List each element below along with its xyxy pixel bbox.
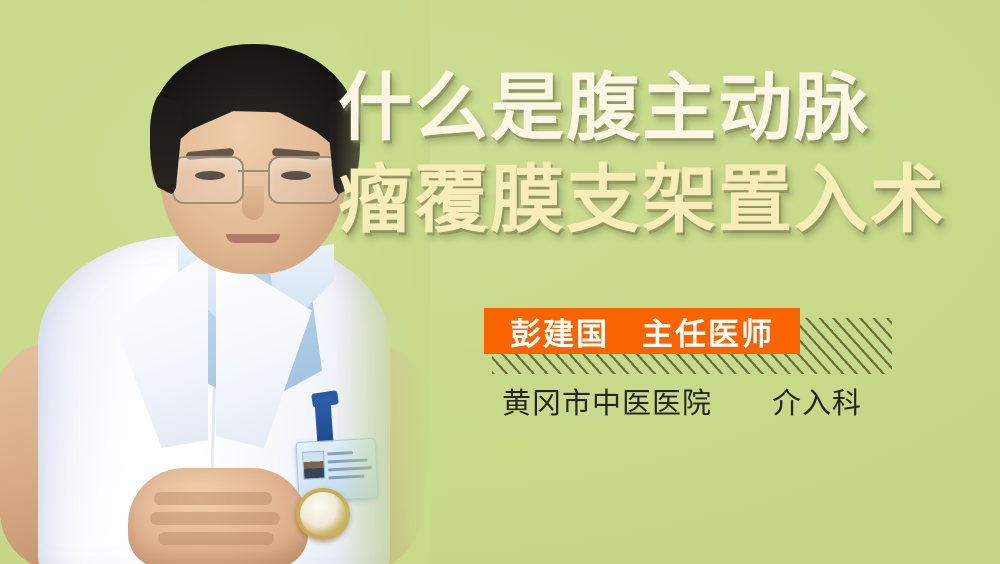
finger — [158, 532, 274, 545]
thumbnail-canvas: 什么是腹主动脉 瘤覆膜支架置入术 彭建国 主任医师 黄冈市中医医院 介入科 — [0, 0, 1000, 564]
page-title-line-1: 什么是腹主动脉 — [338, 62, 938, 154]
id-badge-text-line — [328, 475, 364, 480]
doctor-name-badge-label: 彭建国 主任医师 — [510, 309, 774, 354]
id-badge-text-line — [328, 466, 372, 471]
doctor-name-badge: 彭建国 主任医师 — [484, 308, 800, 354]
title-block: 什么是腹主动脉 瘤覆膜支架置入术 — [338, 62, 938, 246]
clasped-hands — [128, 468, 308, 564]
hospital-department-subtitle: 黄冈市中医医院 介入科 — [502, 380, 862, 422]
finger — [150, 512, 280, 525]
eyeglasses — [172, 156, 336, 204]
id-badge-text-line — [327, 451, 353, 455]
mouth — [226, 234, 280, 243]
badge-lanyard-strap — [314, 398, 333, 447]
id-badge-photo — [302, 451, 325, 480]
wristwatch — [296, 488, 350, 540]
lens-right — [268, 156, 340, 204]
finger — [154, 492, 272, 505]
lens-left — [172, 156, 244, 204]
page-title-line-2: 瘤覆膜支架置入术 — [338, 154, 938, 246]
id-badge-text-line — [327, 458, 367, 463]
glasses-bridge — [238, 170, 270, 172]
